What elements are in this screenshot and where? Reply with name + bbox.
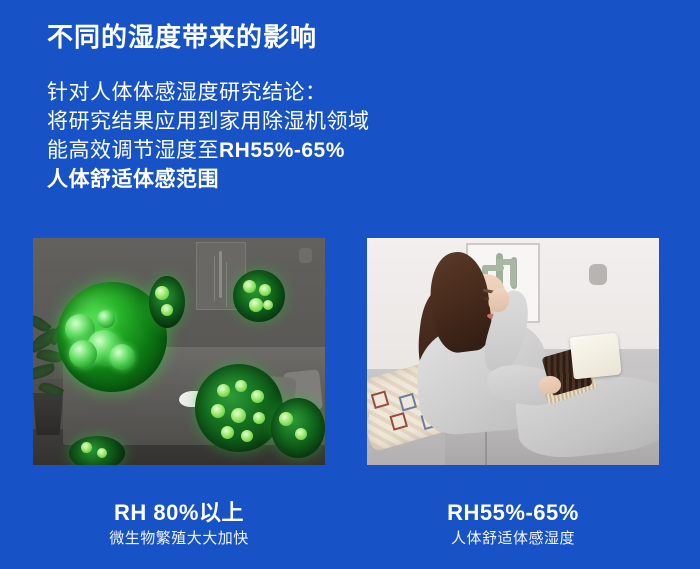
photo-comfort-humidity [367,238,659,465]
body-line-2: 将研究结果应用到家用除湿机领域 [47,107,370,136]
woman-hand-on-book [539,376,561,394]
microbe-spike [259,284,271,296]
microbe-blob [97,310,115,328]
caption-high-humidity: RH 80%以上 微生物繁殖大大加快 [33,500,325,550]
microbe-floor [69,436,125,465]
microbe-spike [243,280,256,293]
microbe-spike [263,300,273,310]
humidity-range-value: RH55%-65% [219,139,345,162]
microbe-spike [235,380,247,392]
body-line-1: 针对人体体感湿度研究结论： [47,78,370,107]
microbe-spike [251,390,264,403]
microbe-spike [217,384,230,397]
poster-root: 不同的湿度带来的影响 针对人体体感湿度研究结论： 将研究结果应用到家用除湿机领域… [0,0,700,569]
microbe-spike [231,408,246,423]
microbe-spike [279,412,293,426]
caption-right-subtitle: 人体舒适体感湿度 [367,528,659,550]
microbe-bottom [195,364,283,452]
caption-comfort-humidity: RH55%-65% 人体舒适体感湿度 [367,500,659,550]
caption-left-subtitle: 微生物繁殖大大加快 [33,528,325,550]
microbe-spike [249,298,263,312]
pillow-motif [389,412,408,431]
wall-lamp-icon [589,264,607,285]
light-room-scene [367,238,659,465]
body-line-3: 能高效调节湿度至RH55%-65% [47,136,370,165]
microbe-spike [161,304,173,316]
microbe-medium [233,270,285,322]
microbe-blob [69,340,97,368]
microbe-corner [271,398,325,458]
microbe-spike [211,404,225,418]
microbe-small-edge [149,276,185,328]
microbe-spike [97,448,107,458]
pillow-motif [398,393,417,412]
page-title: 不同的湿度带来的影响 [47,17,317,54]
microbe-spike [155,286,169,300]
microbe-spike [221,426,234,439]
body-line-4: 人体舒适体感范围 [47,165,370,194]
wall-knob-icon [299,248,312,263]
microbe-spike [295,428,307,440]
photo-high-humidity [33,238,325,465]
pillow-motif [371,390,390,409]
microbe-spike [241,430,253,442]
cactus-arm [482,265,504,271]
body-line-3-normal: 能高效调节湿度至 [47,139,219,162]
cactus-arm [496,259,516,265]
caption-right-title: RH55%-65% [367,500,659,526]
microbe-blob [109,344,135,370]
body-copy: 针对人体体感湿度研究结论： 将研究结果应用到家用除湿机领域 能高效调节湿度至RH… [47,78,370,194]
book-right-page [570,333,622,380]
dark-room-scene [33,238,325,465]
caption-left-title: RH 80%以上 [33,500,325,526]
microbe-spike [81,442,92,453]
microbe-spike [253,412,265,424]
